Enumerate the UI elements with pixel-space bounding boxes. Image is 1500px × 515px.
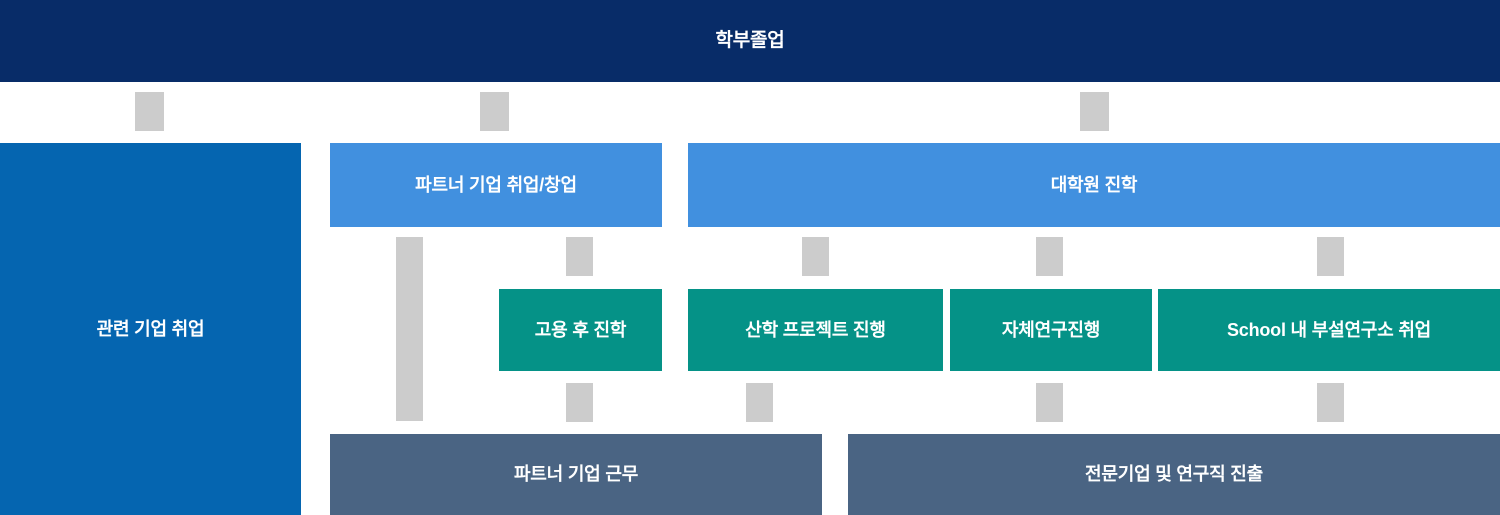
- node-partner-company-work: 파트너 기업 근무: [330, 434, 822, 515]
- node-label: 대학원 진학: [1051, 174, 1138, 197]
- node-label: 산학 프로젝트 진행: [745, 319, 885, 342]
- connector-c-root-to-track-left: [135, 92, 164, 131]
- connector-c-root-to-gradschool: [1080, 92, 1109, 131]
- node-study-after-employment: 고용 후 진학: [499, 289, 662, 371]
- connector-c-project-to-outcome: [746, 383, 773, 422]
- connector-c-grad-to-institute: [1317, 237, 1344, 276]
- connector-c-institute-to-outcome: [1317, 383, 1344, 422]
- node-label: 파트너 기업 취업/창업: [415, 174, 577, 197]
- node-label: 전문기업 및 연구직 진출: [1085, 463, 1263, 486]
- connector-c-study-to-work: [566, 383, 593, 422]
- node-partner-company-employment-startup: 파트너 기업 취업/창업: [330, 143, 662, 227]
- node-related-company-employment: 관련 기업 취업: [0, 143, 301, 515]
- connector-c-root-to-partner: [480, 92, 509, 131]
- node-specialist-company-research-career: 전문기업 및 연구직 진출: [848, 434, 1500, 515]
- connector-c-partner-to-work-long: [396, 237, 423, 421]
- connector-c-research-to-outcome: [1036, 383, 1063, 422]
- career-path-diagram: 학부졸업관련 기업 취업파트너 기업 취업/창업대학원 진학고용 후 진학산학 …: [0, 0, 1500, 515]
- node-label: 파트너 기업 근무: [514, 463, 638, 486]
- node-label: 학부졸업: [715, 29, 784, 53]
- node-label: 고용 후 진학: [535, 319, 626, 342]
- connector-c-grad-to-own-research: [1036, 237, 1063, 276]
- node-graduate-school: 대학원 진학: [688, 143, 1500, 227]
- node-undergrad-graduation: 학부졸업: [0, 0, 1500, 82]
- node-own-research: 자체연구진행: [950, 289, 1152, 371]
- node-school-affiliated-institute-employment: School 내 부설연구소 취업: [1158, 289, 1500, 371]
- node-label: School 내 부설연구소 취업: [1227, 319, 1431, 342]
- node-label: 관련 기업 취업: [97, 318, 205, 341]
- node-industry-academia-project: 산학 프로젝트 진행: [688, 289, 943, 371]
- connector-c-grad-to-project: [802, 237, 829, 276]
- connector-c-partner-to-study: [566, 237, 593, 276]
- node-label: 자체연구진행: [1002, 319, 1100, 342]
